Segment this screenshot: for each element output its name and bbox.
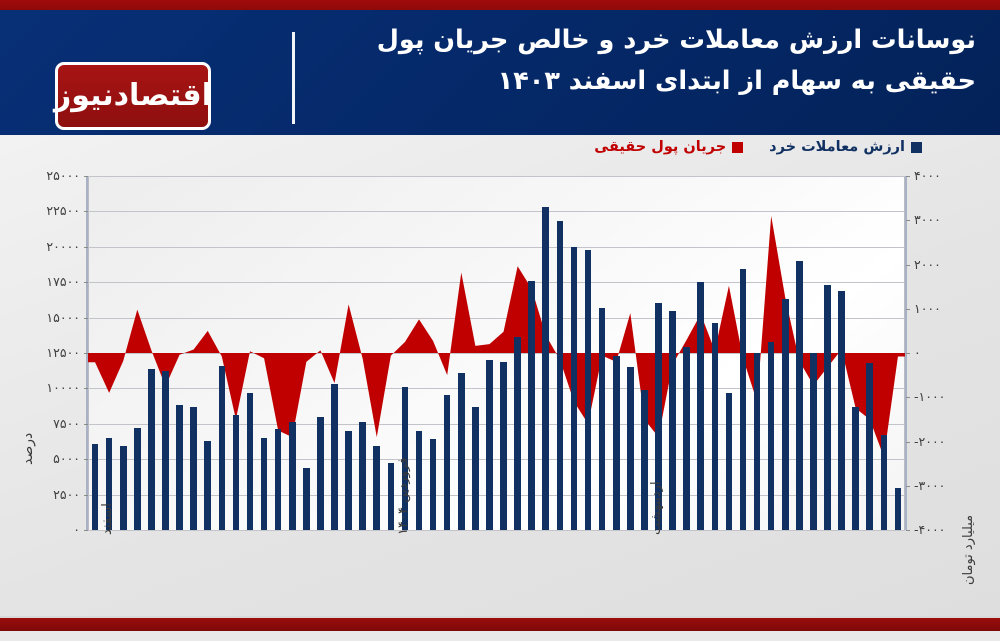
bar xyxy=(782,299,789,530)
bar xyxy=(542,207,549,530)
y-tick-mark-left xyxy=(84,459,88,460)
y-tick-label-right: -۳۰۰۰ xyxy=(914,478,945,493)
y-tick-label-right: ۱۰۰۰ xyxy=(914,301,941,316)
y-tick-label-right: ۰ xyxy=(914,345,921,360)
y-tick-mark-right xyxy=(906,265,910,266)
y-tick-label-right: -۱۰۰۰ xyxy=(914,389,945,404)
bar xyxy=(486,360,493,530)
bar xyxy=(838,291,845,530)
chart-card: ارزش معاملات خرد جریان پول حقیقی درصد می… xyxy=(0,135,1000,631)
bar xyxy=(852,407,859,530)
y-tick-mark-right xyxy=(906,353,910,354)
bar xyxy=(683,347,690,530)
bar xyxy=(866,363,873,530)
y-tick-mark-right xyxy=(906,530,910,531)
legend-swatch-red-icon xyxy=(732,142,743,153)
screenshot-root: نوسانات ارزش معاملات خرد و خالص جریان پو… xyxy=(0,0,1000,641)
y-tick-label-left: ۲۰۰۰۰ xyxy=(0,239,80,254)
bar xyxy=(120,446,127,530)
logo-wordmark: اقتصادنیوز xyxy=(54,81,212,111)
bar xyxy=(627,367,634,530)
y-tick-label-left: ۲۵۰۰۰ xyxy=(0,168,80,183)
page-title: نوسانات ارزش معاملات خرد و خالص جریان پو… xyxy=(316,20,976,103)
bar xyxy=(895,488,902,530)
bar xyxy=(331,384,338,530)
bar xyxy=(599,308,606,530)
bar xyxy=(528,281,535,530)
bar xyxy=(275,429,282,530)
bar xyxy=(514,337,521,530)
y-tick-mark-left xyxy=(84,495,88,496)
page-title-line1: نوسانات ارزش معاملات خرد و خالص جریان پو… xyxy=(316,20,976,61)
bar xyxy=(430,439,437,530)
bar xyxy=(303,468,310,530)
y-tick-mark-left xyxy=(84,424,88,425)
legend-swatch-blue-icon xyxy=(911,142,922,153)
bar xyxy=(92,444,99,530)
y-tick-label-left: ۷۵۰۰ xyxy=(0,416,80,431)
header-divider xyxy=(292,32,295,124)
x-tick-label: اردیبهشت xyxy=(649,481,664,535)
bar xyxy=(641,390,648,530)
bar xyxy=(190,407,197,530)
bar xyxy=(416,431,423,530)
y-tick-label-left: ۵۰۰۰ xyxy=(0,451,80,466)
y-tick-mark-right xyxy=(906,397,910,398)
gridline xyxy=(88,530,905,531)
bar xyxy=(317,417,324,530)
bar xyxy=(613,356,620,530)
y-tick-label-right: -۴۰۰۰ xyxy=(914,522,945,537)
bar xyxy=(557,221,564,530)
bar xyxy=(219,366,226,530)
y-tick-mark-right xyxy=(906,220,910,221)
bar xyxy=(726,393,733,530)
bar xyxy=(669,311,676,530)
bar xyxy=(697,282,704,530)
y-tick-mark-left xyxy=(84,176,88,177)
y-tick-label-left: ۱۰۰۰۰ xyxy=(0,380,80,395)
bar xyxy=(162,371,169,530)
plot-area xyxy=(88,176,905,530)
bar xyxy=(712,323,719,530)
y-tick-label-right: ۴۰۰۰ xyxy=(914,168,941,183)
bar xyxy=(261,438,268,530)
footer-accent-strip xyxy=(0,618,1000,631)
bar xyxy=(134,428,141,530)
y-tick-label-left: ۱۷۵۰۰ xyxy=(0,274,80,289)
bar xyxy=(373,446,380,530)
y-tick-label-left: ۲۵۰۰ xyxy=(0,487,80,502)
bar xyxy=(444,395,451,530)
bar xyxy=(148,369,155,530)
bar xyxy=(388,463,395,530)
bar xyxy=(810,353,817,530)
bar xyxy=(289,422,296,530)
page-header: نوسانات ارزش معاملات خرد و خالص جریان پو… xyxy=(0,10,1000,135)
bar xyxy=(247,393,254,530)
y-tick-mark-left xyxy=(84,530,88,531)
legend-label-red: جریان پول حقیقی xyxy=(594,139,726,155)
bar xyxy=(204,441,211,530)
bar xyxy=(571,247,578,530)
y-tick-mark-left xyxy=(84,247,88,248)
y-tick-mark-left xyxy=(84,211,88,212)
legend-item-money-flow[interactable]: جریان پول حقیقی xyxy=(594,139,743,155)
top-accent-strip xyxy=(0,0,1000,10)
bar xyxy=(458,373,465,530)
y-tick-label-right: ۳۰۰۰ xyxy=(914,212,941,227)
y-tick-mark-right xyxy=(906,309,910,310)
y-tick-mark-right xyxy=(906,442,910,443)
bar xyxy=(472,407,479,530)
y-tick-label-left: ۱۲۵۰۰ xyxy=(0,345,80,360)
y-tick-mark-left xyxy=(84,282,88,283)
chart-legend: ارزش معاملات خرد جریان پول حقیقی xyxy=(594,139,922,155)
bar xyxy=(176,405,183,530)
bar xyxy=(585,250,592,530)
legend-label-blue: ارزش معاملات خرد xyxy=(769,139,905,155)
y-tick-mark-right xyxy=(906,176,910,177)
y-tick-mark-right xyxy=(906,486,910,487)
y-tick-label-left: ۱۵۰۰۰ xyxy=(0,310,80,325)
y-tick-mark-left xyxy=(84,318,88,319)
y-tick-label-left: ۲۲۵۰۰ xyxy=(0,203,80,218)
y-tick-mark-left xyxy=(84,388,88,389)
y-tick-label-right: ۲۰۰۰ xyxy=(914,257,941,272)
bar xyxy=(881,435,888,530)
y-tick-label-right: -۲۰۰۰ xyxy=(914,434,945,449)
bar xyxy=(796,261,803,530)
bar xyxy=(740,269,747,530)
page-title-line2: حقیقی به سهام از ابتدای اسفند ۱۴۰۳ xyxy=(316,61,976,102)
bar xyxy=(233,415,240,530)
x-tick-label: فروردین ۱۴۰۴ xyxy=(396,458,411,535)
x-tick-label: اسفند xyxy=(100,503,115,535)
y-tick-label-left: ۰ xyxy=(0,522,80,537)
logo-badge: اقتصادنیوز xyxy=(55,62,211,130)
bar xyxy=(824,285,831,530)
bar xyxy=(500,362,507,531)
bar xyxy=(754,353,761,530)
bar xyxy=(345,431,352,530)
legend-item-trade-value[interactable]: ارزش معاملات خرد xyxy=(769,139,922,155)
bar xyxy=(359,422,366,530)
y-axis-label-right: میلیارد تومان xyxy=(961,515,976,585)
y-tick-mark-left xyxy=(84,353,88,354)
bar xyxy=(768,342,775,530)
